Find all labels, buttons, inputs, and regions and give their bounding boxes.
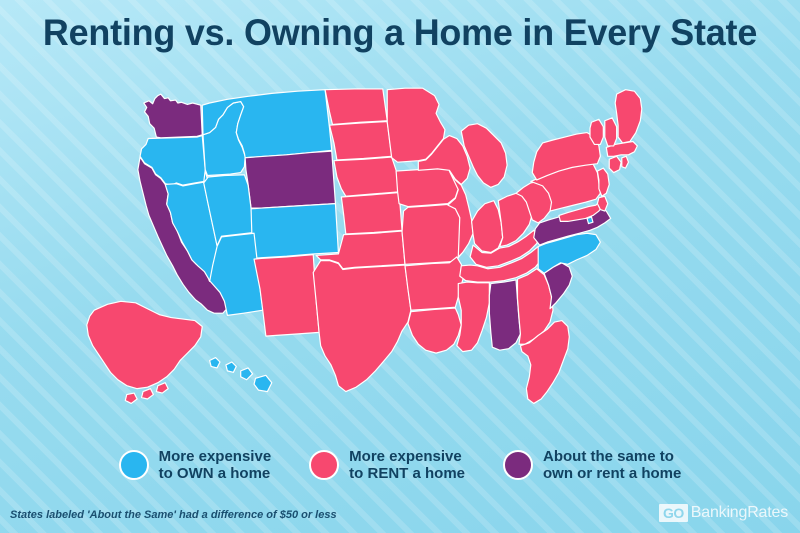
logo-wordmark: BankingRates (691, 504, 788, 522)
state-dc: District of Columbia (587, 217, 593, 224)
state-sd: South Dakota (330, 122, 392, 160)
us-map-svg: WashingtonOregonCaliforniaNevadaIdahoMon… (40, 66, 770, 436)
state-wa: Washington (144, 94, 202, 138)
gobankingrates-logo: GO BankingRates (659, 504, 788, 522)
legend-label-same: About the same to own or rent a home (543, 448, 681, 482)
us-choropleth-map: WashingtonOregonCaliforniaNevadaIdahoMon… (40, 66, 770, 436)
page-title: Renting vs. Owning a Home in Every State (12, 12, 788, 54)
legend-label-own: More expensive to OWN a home (159, 448, 272, 482)
state-nm: New Mexico (254, 255, 319, 336)
state-nd: North Dakota (325, 89, 387, 125)
state-mi: Michigan (461, 124, 507, 188)
state-vt: Vermont (590, 119, 603, 144)
map-legend: More expensive to OWN a home More expens… (0, 448, 800, 482)
infographic-canvas: Renting vs. Owning a Home in Every State… (0, 0, 800, 533)
state-ct: Connecticut (609, 156, 621, 172)
state-co: Colorado (251, 204, 338, 259)
state-ks: Kansas (341, 193, 402, 234)
state-in: Indiana (472, 201, 503, 253)
legend-label-rent: More expensive to RENT a home (349, 448, 465, 482)
state-ia: Iowa (396, 168, 458, 206)
state-ne: Nebraska (334, 157, 399, 196)
state-wy: Wyoming (245, 151, 335, 208)
legend-item-same: About the same to own or rent a home (503, 448, 681, 482)
state-ms: Mississippi (457, 282, 490, 352)
state-ri: Rhode Island (622, 156, 629, 168)
legend-swatch-own-icon (119, 450, 149, 480)
legend-swatch-same-icon (503, 450, 533, 480)
legend-item-rent: More expensive to RENT a home (309, 448, 465, 482)
state-me: Maine (615, 90, 642, 143)
legend-item-own: More expensive to OWN a home (119, 448, 272, 482)
logo-mark: GO (659, 504, 688, 522)
state-ak: Alaska (87, 301, 202, 403)
state-tx: Texas (313, 261, 411, 392)
state-al: Alabama (489, 280, 520, 350)
state-ar: Arkansas (405, 257, 464, 310)
title-bar: Renting vs. Owning a Home in Every State (0, 12, 800, 54)
state-hi: Hawaii (210, 358, 272, 392)
state-la: Louisiana (408, 308, 461, 353)
footnote: States labeled 'About the Same' had a di… (10, 509, 337, 521)
legend-swatch-rent-icon (309, 450, 339, 480)
state-nh: New Hampshire (605, 118, 617, 146)
